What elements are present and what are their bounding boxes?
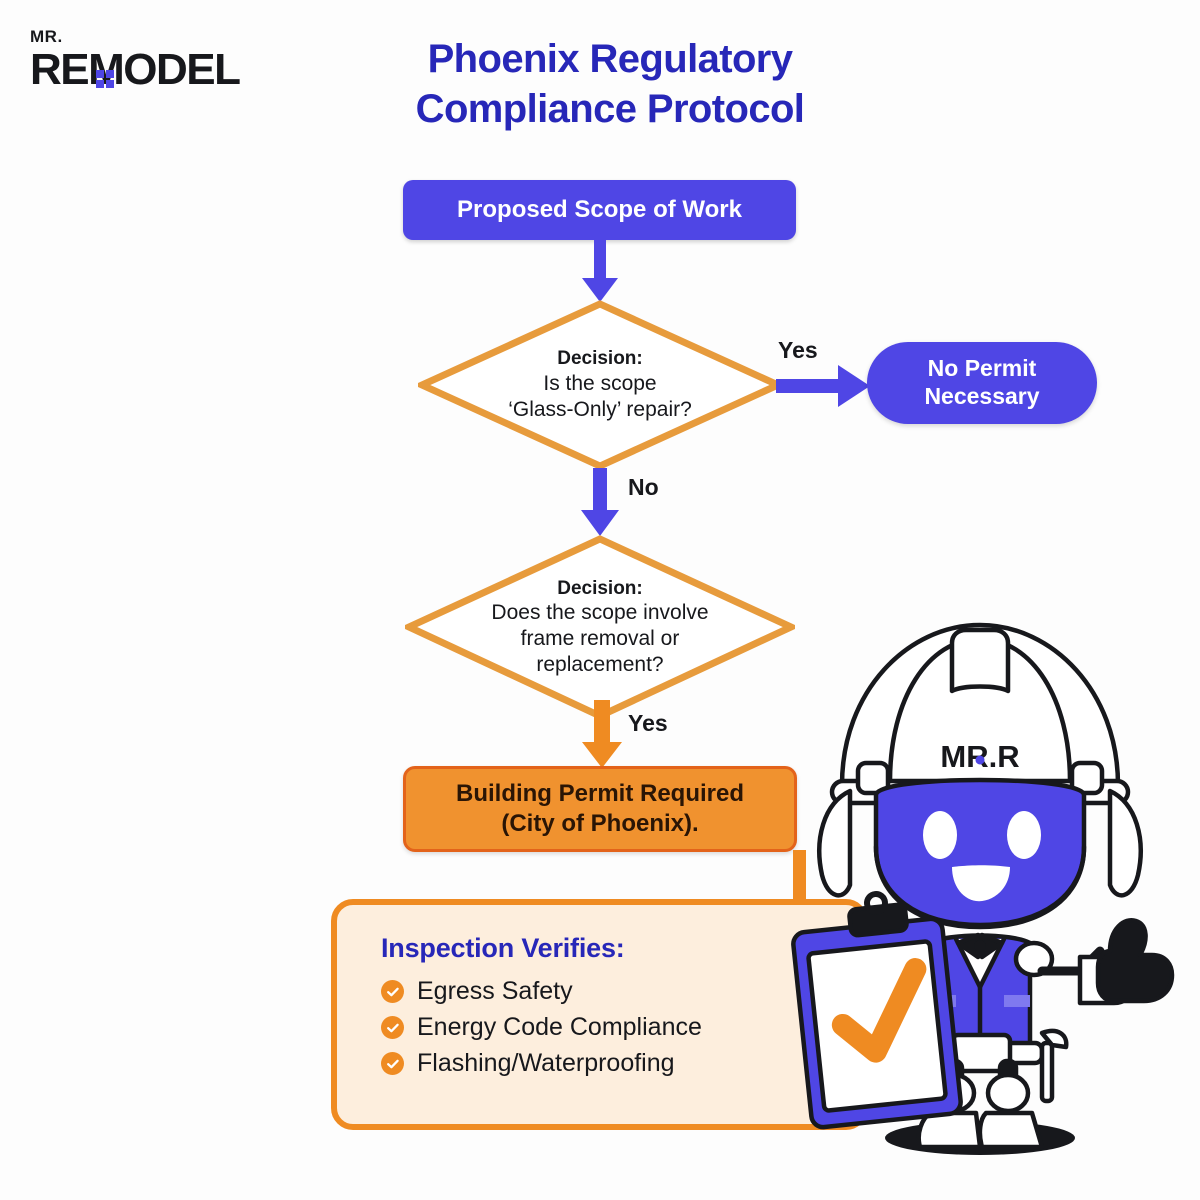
connector-decision1-no (568, 468, 632, 538)
decision-2-line-3: replacement? (491, 652, 708, 678)
inspection-item-label: Egress Safety (417, 977, 573, 1006)
decision-2-heading: Decision: (491, 577, 708, 601)
page-title-line-1: Phoenix Regulatory (300, 34, 920, 84)
decision-2-line-2: frame removal or (491, 626, 708, 652)
no-permit-line-2: Necessary (924, 383, 1039, 411)
connector-decision2-yes (572, 700, 632, 770)
edge-label-no-1: No (628, 474, 659, 501)
decision-2-text: Decision: Does the scope involve frame r… (491, 577, 708, 679)
edge-label-yes-1: Yes (778, 337, 818, 364)
decision-2-line-1: Does the scope involve (491, 600, 708, 626)
decision-1-heading: Decision: (508, 347, 692, 371)
logo-wordmark: REMODEL (30, 48, 240, 92)
page-title-line-2: Compliance Protocol (300, 84, 920, 134)
logo-wordmark-text: REMODEL (30, 45, 240, 94)
check-circle-icon (381, 1052, 404, 1075)
edge-label-yes-2: Yes (628, 710, 668, 737)
permit-required-line-1: Building Permit Required (456, 779, 744, 809)
no-permit-line-1: No Permit (924, 355, 1039, 383)
check-circle-icon (381, 980, 404, 1003)
decision-node-1[interactable]: Decision: Is the scope ‘Glass-Only’ repa… (418, 300, 782, 470)
inspection-item-label: Flashing/Waterproofing (417, 1049, 675, 1078)
brand-logo: MR. REMODEL (30, 28, 240, 92)
flow-start-label: Proposed Scope of Work (457, 196, 742, 224)
outcome-no-permit-node[interactable]: No Permit Necessary (867, 342, 1097, 424)
check-circle-icon (381, 1016, 404, 1039)
decision-1-line-1: Is the scope (508, 371, 692, 397)
decision-node-2[interactable]: Decision: Does the scope involve frame r… (405, 535, 795, 720)
infographic-canvas: MR. REMODEL Phoenix Regulatory Complianc… (0, 0, 1200, 1200)
decision-1-text: Decision: Is the scope ‘Glass-Only’ repa… (508, 347, 692, 423)
logo-mr-text: MR. (30, 28, 240, 45)
window-grid-icon (96, 70, 114, 88)
decision-1-line-2: ‘Glass-Only’ repair? (508, 397, 692, 423)
inspection-item-label: Energy Code Compliance (417, 1013, 702, 1042)
flow-start-node[interactable]: Proposed Scope of Work (403, 180, 796, 240)
permit-required-line-2: (City of Phoenix). (456, 809, 744, 839)
connector-start-to-decision1 (568, 238, 632, 304)
clipboard (792, 893, 962, 1128)
connector-decision1-yes (776, 360, 872, 412)
permit-required-node[interactable]: Building Permit Required (City of Phoeni… (403, 766, 797, 852)
page-title: Phoenix Regulatory Compliance Protocol (300, 34, 920, 134)
mascot-robot: MR.R (780, 595, 1200, 1175)
